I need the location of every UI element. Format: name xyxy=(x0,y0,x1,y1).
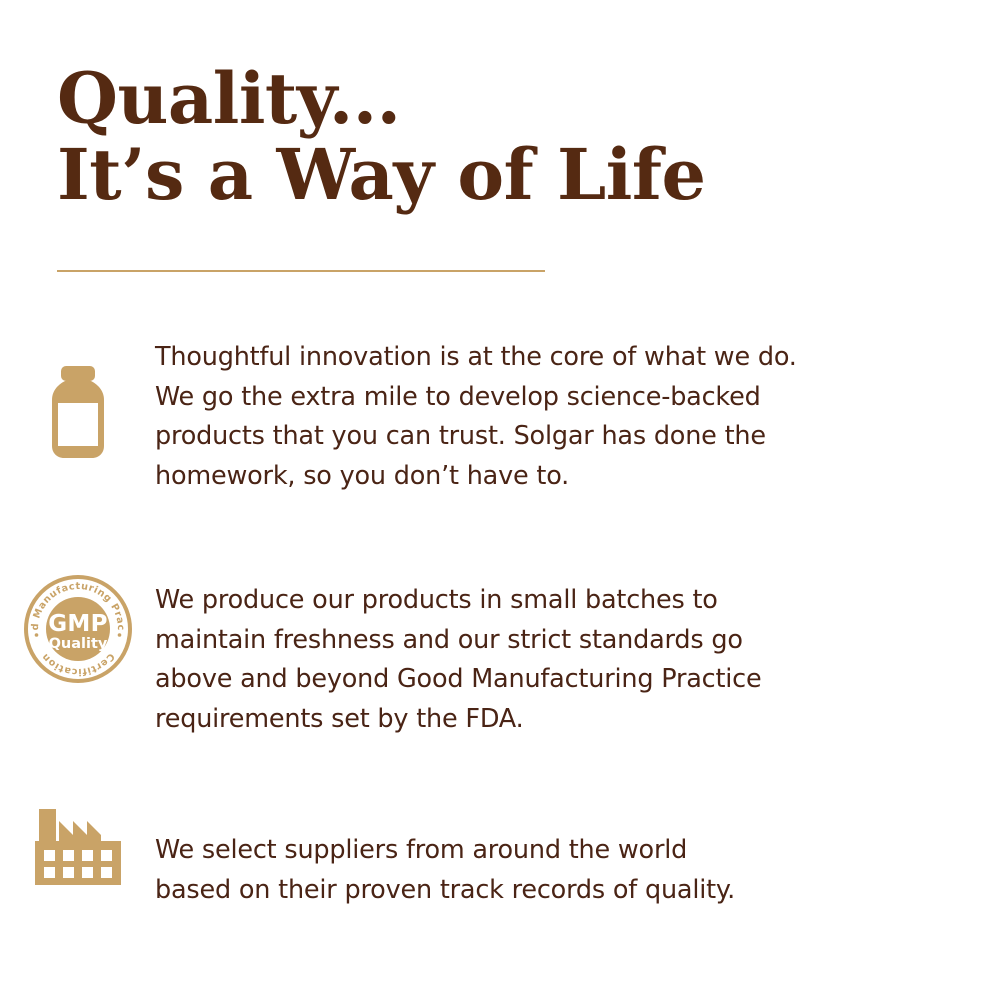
page-title: Quality... It’s a Way of Life xyxy=(57,62,917,212)
feature-list: Thoughtful innovation is at the core of … xyxy=(0,330,1000,935)
gmp-inner-main-label: GMP xyxy=(48,611,108,637)
page-title-line-1: Quality... xyxy=(57,62,917,136)
gmp-inner-sub-label: Quality xyxy=(48,636,107,652)
feature-text-gmp: We produce our products in small batches… xyxy=(155,560,1000,739)
feature-text-suppliers: We select suppliers from around the worl… xyxy=(155,795,1000,910)
gmp-quality-seal-icon: Good Manufacturing Practice Certificatio… xyxy=(24,575,132,683)
feature-icon-wrapper: Good Manufacturing Practice Certificatio… xyxy=(0,560,155,683)
feature-item-suppliers: We select suppliers from around the worl… xyxy=(0,795,1000,935)
quality-brand-page: Quality... It’s a Way of Life Thoughtful… xyxy=(0,0,1000,1000)
page-title-line-2: It’s a Way of Life xyxy=(57,138,917,212)
gold-divider xyxy=(57,270,545,272)
factory-icon xyxy=(35,809,121,885)
feature-icon-wrapper xyxy=(0,795,155,885)
feature-item-innovation: Thoughtful innovation is at the core of … xyxy=(0,330,1000,560)
feature-text-innovation: Thoughtful innovation is at the core of … xyxy=(155,330,1000,496)
feature-item-gmp: Good Manufacturing Practice Certificatio… xyxy=(0,560,1000,795)
supplement-bottle-icon xyxy=(43,366,113,460)
feature-icon-wrapper xyxy=(0,330,155,460)
